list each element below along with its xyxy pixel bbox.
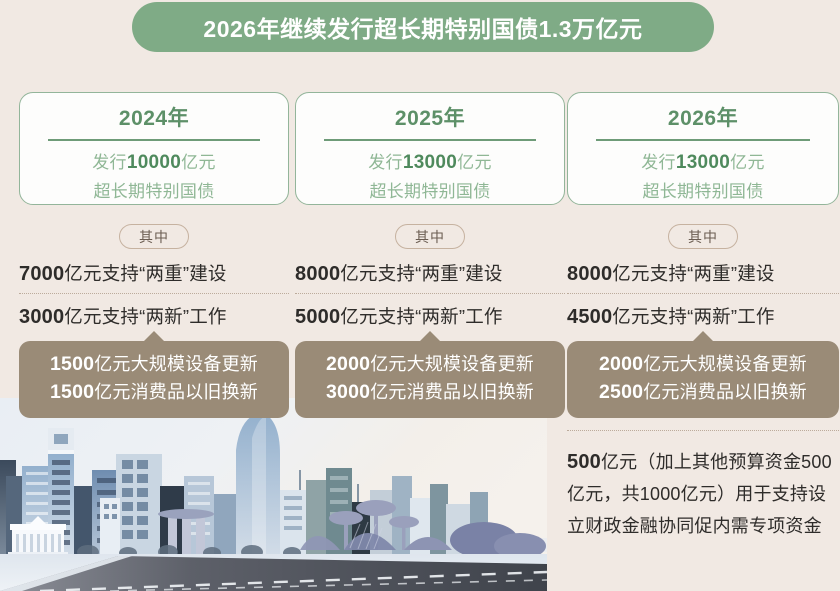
detail-text: 8000亿元支持“两重”建设 <box>567 260 775 286</box>
among-badge-2025: 其中 <box>395 224 465 249</box>
detail-text: 7000亿元支持“两重”建设 <box>19 260 227 286</box>
year-label: 2024年 <box>119 102 189 132</box>
detail-row: 8000亿元支持“两重”建设 <box>567 258 839 288</box>
breakdown-line: 2000亿元大规模设备更新 <box>326 350 534 378</box>
footer-divider <box>567 430 839 431</box>
year-card-2025: 2025年 发行13000亿元 超长期特别国债 <box>295 92 565 205</box>
issue-type-line: 超长期特别国债 <box>93 177 214 202</box>
row-divider <box>567 293 839 294</box>
issue-amount-line: 发行10000亿元 <box>92 148 216 174</box>
among-badge-2026: 其中 <box>668 224 738 249</box>
issue-type-line: 超长期特别国债 <box>369 177 490 202</box>
detail-row: 5000亿元支持“两新”工作 <box>295 301 565 331</box>
breakdown-box: 2000亿元大规模设备更新 2500亿元消费品以旧换新 <box>567 341 839 418</box>
breakdown-line: 1500亿元消费品以旧换新 <box>50 378 258 406</box>
detail-text: 8000亿元支持“两重”建设 <box>295 260 503 286</box>
detail-row: 8000亿元支持“两重”建设 <box>295 258 565 288</box>
year-label: 2026年 <box>668 102 738 132</box>
detail-text: 3000亿元支持“两新”工作 <box>19 303 227 329</box>
issue-amount-line: 发行13000亿元 <box>368 148 492 174</box>
detail-text: 5000亿元支持“两新”工作 <box>295 303 503 329</box>
among-label: 其中 <box>415 227 445 247</box>
year-label: 2025年 <box>395 102 465 132</box>
card-divider <box>596 139 809 141</box>
issue-type-line: 超长期特别国债 <box>642 177 763 202</box>
row-divider <box>295 293 565 294</box>
detail-text: 4500亿元支持“两新”工作 <box>567 303 775 329</box>
detail-row: 7000亿元支持“两重”建设 <box>19 258 289 288</box>
among-label: 其中 <box>139 227 169 247</box>
detail-row: 4500亿元支持“两新”工作 <box>567 301 839 331</box>
detail-row: 3000亿元支持“两新”工作 <box>19 301 289 331</box>
breakdown-line: 2500亿元消费品以旧换新 <box>599 378 807 406</box>
row-divider <box>19 293 289 294</box>
infographic-root: 2026年继续发行超长期特别国债1.3万亿元 <box>0 0 840 591</box>
year-card-2024: 2024年 发行10000亿元 超长期特别国债 <box>19 92 289 205</box>
among-label: 其中 <box>688 227 718 247</box>
breakdown-line: 1500亿元大规模设备更新 <box>50 350 258 378</box>
year-card-2026: 2026年 发行13000亿元 超长期特别国债 <box>567 92 839 205</box>
breakdown-line: 2000亿元大规模设备更新 <box>599 350 807 378</box>
columns-container: 2024年 发行10000亿元 超长期特别国债 其中 7000亿元支持“两重”建… <box>0 0 840 591</box>
breakdown-line: 3000亿元消费品以旧换新 <box>326 378 534 406</box>
breakdown-box: 2000亿元大规模设备更新 3000亿元消费品以旧换新 <box>295 341 565 418</box>
footer-note: 500亿元（加上其他预算资金500亿元，共1000亿元）用于支持设立财政金融协同… <box>567 446 839 542</box>
card-divider <box>324 139 536 141</box>
card-divider <box>48 139 260 141</box>
breakdown-box: 1500亿元大规模设备更新 1500亿元消费品以旧换新 <box>19 341 289 418</box>
issue-amount-line: 发行13000亿元 <box>641 148 765 174</box>
among-badge-2024: 其中 <box>119 224 189 249</box>
